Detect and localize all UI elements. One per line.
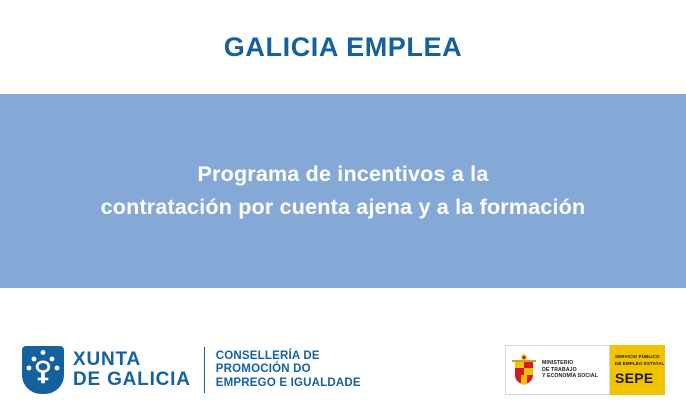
ministerio-line-3: Y ECONOMÍA SOCIAL xyxy=(542,373,598,380)
ministerio-text: MINISTERIO DE TRABAJO Y ECONOMÍA SOCIAL xyxy=(542,360,598,380)
blue-banner: Programa de incentivos a la contratación… xyxy=(0,94,686,288)
banner-line-2: contratación por cuenta ajena y a la for… xyxy=(101,192,586,223)
conselleria-line-2: PROMOCIÓN DO xyxy=(216,363,361,377)
ministerio-logo: MINISTERIO DE TRABAJO Y ECONOMÍA SOCIAL xyxy=(505,345,610,395)
xunta-wordmark: XUNTA DE GALICIA xyxy=(73,350,191,390)
xunta-line-2: DE GALICIA xyxy=(73,370,191,390)
poster-page: GALICIA EMPLEA Programa de incentivos a … xyxy=(0,0,686,410)
sepe-logo: SERVICIO PÚBLICO DE EMPLEO ESTATAL SEPE xyxy=(610,345,665,395)
spain-coat-of-arms-icon xyxy=(511,353,537,387)
conselleria-line-3: EMPREGO E IGUALDADE xyxy=(216,377,361,391)
government-logos: MINISTERIO DE TRABAJO Y ECONOMÍA SOCIAL … xyxy=(505,345,665,395)
banner-text-block: Programa de incentivos a la contratación… xyxy=(0,94,686,288)
header-area: GALICIA EMPLEA xyxy=(0,0,686,94)
sepe-line-2: DE EMPLEO ESTATAL xyxy=(615,361,665,367)
logo-divider xyxy=(204,347,205,393)
xunta-shield-icon xyxy=(22,346,64,394)
xunta-line-1: XUNTA xyxy=(73,350,191,370)
conselleria-line-1: CONSELLERÍA DE xyxy=(216,350,361,364)
conselleria-block: CONSELLERÍA DE PROMOCIÓN DO EMPREGO E IG… xyxy=(216,350,361,391)
page-title: GALICIA EMPLEA xyxy=(224,32,462,63)
banner-line-1: Programa de incentivos a la xyxy=(198,159,489,190)
xunta-de-galicia-logo: XUNTA DE GALICIA CONSELLERÍA DE PROMOCIÓ… xyxy=(22,344,361,396)
sepe-acronym: SEPE xyxy=(615,370,665,386)
